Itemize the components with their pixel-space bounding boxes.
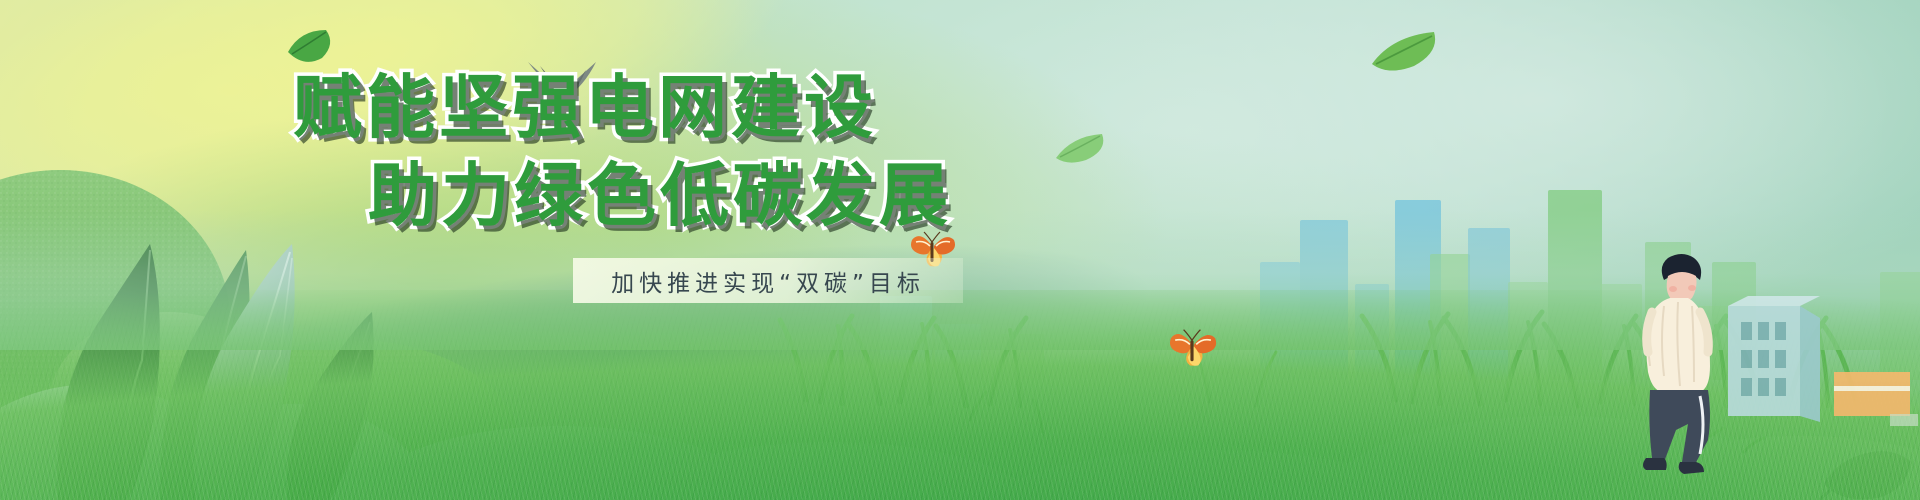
eco-grid-banner: 赋能坚强电网建设 助力绿色低碳发展 加快推进实现“双碳”目标 xyxy=(0,0,1920,500)
orange-hut xyxy=(1834,372,1918,426)
butterfly-left xyxy=(1170,330,1216,366)
subtitle-text: 加快推进实现“双碳”目标 xyxy=(611,264,925,298)
foreground-details xyxy=(0,0,1920,500)
leaf-top-left-icon xyxy=(288,30,330,62)
leaf-top-right-icon xyxy=(1372,32,1435,71)
swallow-bird-icon xyxy=(528,62,596,112)
office-building xyxy=(1728,296,1820,422)
walking-person xyxy=(1643,254,1710,474)
leaf-mid-right-icon xyxy=(1056,134,1103,163)
subtitle-bar: 加快推进实现“双碳”目标 xyxy=(573,258,963,303)
